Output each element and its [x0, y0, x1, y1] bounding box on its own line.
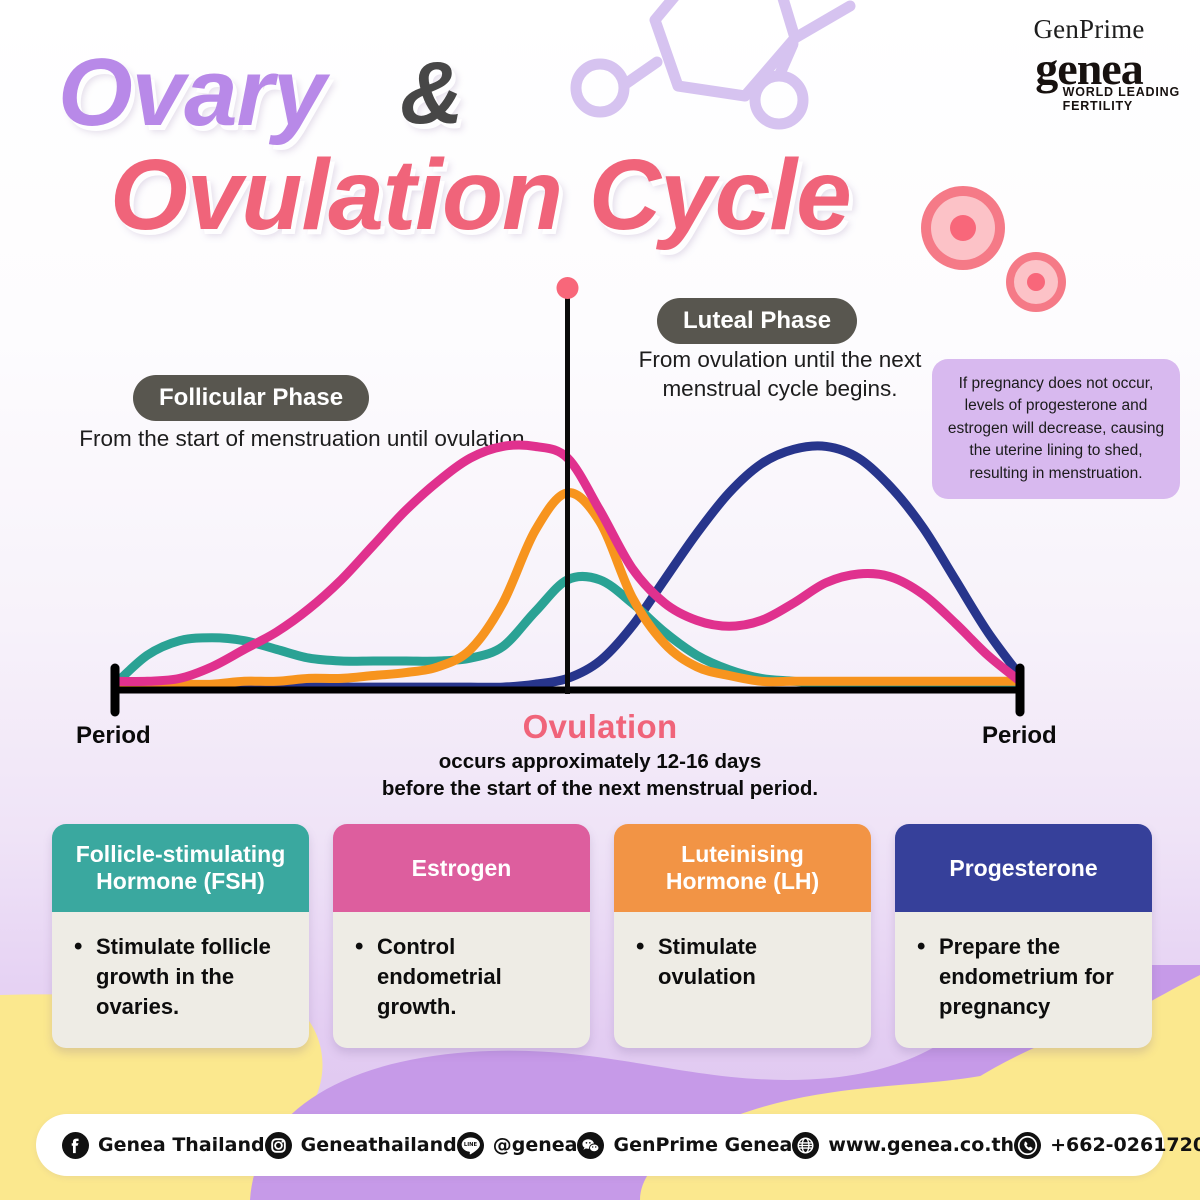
contact-item-label: www.genea.co.th	[828, 1134, 1014, 1156]
ovulation-sublabel-line2: before the start of the next menstrual p…	[0, 775, 1200, 802]
hormone-card-bullet: Prepare the endometrium for pregnancy	[905, 932, 1136, 1022]
contact-item[interactable]: Geneathailand	[265, 1132, 457, 1159]
chart-series-lh	[115, 493, 1020, 685]
title-ovulation-cycle: Ovulation Cycle	[110, 138, 851, 253]
hormone-card-body: Control endometrial growth.	[333, 912, 590, 1048]
luteal-phase-badge: Luteal Phase	[657, 298, 857, 344]
contact-item[interactable]: +662-0261720-9	[1014, 1132, 1200, 1159]
chart-series-fsh	[115, 576, 1020, 684]
hormone-card-title-line1: Follicle-stimulating	[76, 841, 286, 868]
follicular-phase-badge: Follicular Phase	[133, 375, 369, 421]
hormone-card-title-line2: Hormone (FSH)	[76, 868, 286, 895]
contact-item-label: +662-0261720-9	[1050, 1134, 1200, 1156]
logo-tagline-line1: WORLD LEADING	[1063, 85, 1180, 99]
page-title: Ovary & Ovulation Cycle	[0, 0, 1000, 280]
contact-item[interactable]: LINE@genea	[457, 1132, 578, 1159]
ovulation-label: Ovulation	[0, 708, 1200, 746]
hormone-card-body: Prepare the endometrium for pregnancy	[895, 912, 1152, 1048]
hormone-card: EstrogenControl endometrial growth.	[333, 824, 590, 1048]
hormone-card-title-line1: Luteinising	[666, 841, 819, 868]
hormone-card-bullet: Stimulate ovulation	[624, 932, 855, 992]
ovulation-sublabel: occurs approximately 12-16 days before t…	[0, 748, 1200, 802]
hormone-card-title-line1: Estrogen	[412, 855, 512, 882]
hormone-card-body: Stimulate follicle growth in the ovaries…	[52, 912, 309, 1048]
hormone-card-title-line1: Progesterone	[949, 855, 1097, 882]
chart-series-estrogen	[115, 445, 1020, 682]
instagram-icon	[265, 1132, 292, 1159]
hormone-card-list: Follicle-stimulatingHormone (FSH)Stimula…	[52, 824, 1152, 1048]
hormone-card-body: Stimulate ovulation	[614, 912, 871, 1044]
phone-icon	[1014, 1132, 1041, 1159]
hormone-card-title-line2: Hormone (LH)	[666, 868, 819, 895]
wechat-icon	[577, 1132, 604, 1159]
contact-item[interactable]: www.genea.co.th	[792, 1132, 1014, 1159]
line-icon: LINE	[457, 1132, 484, 1159]
ovulation-sublabel-line1: occurs approximately 12-16 days	[0, 748, 1200, 775]
title-ampersand: &	[400, 42, 463, 144]
hormone-card: LuteinisingHormone (LH)Stimulate ovulati…	[614, 824, 871, 1048]
brand-logo: GenPrime genea WORLD LEADING FERTILITY	[994, 14, 1184, 113]
logo-tagline: WORLD LEADING FERTILITY	[1063, 85, 1180, 114]
contact-footer: Genea ThailandGeneathailandLINE@geneaGen…	[36, 1114, 1164, 1176]
infographic-poster: Ovary & Ovulation Cycle GenPrime genea W…	[0, 0, 1200, 1200]
hormone-card-bullet: Control endometrial growth.	[343, 932, 574, 1022]
logo-tagline-line2: FERTILITY	[1063, 99, 1180, 113]
hormone-card-title: Progesterone	[895, 824, 1152, 912]
contact-item-label: GenPrime Genea	[613, 1134, 792, 1156]
hormone-card-title: LuteinisingHormone (LH)	[614, 824, 871, 912]
contact-item-label: @genea	[493, 1134, 578, 1156]
contact-item-label: Geneathailand	[301, 1134, 457, 1156]
hormone-card: ProgesteronePrepare the endometrium for …	[895, 824, 1152, 1048]
contact-item-label: Genea Thailand	[98, 1134, 265, 1156]
title-word-ovary: Ovary	[58, 38, 325, 148]
contact-item[interactable]: GenPrime Genea	[577, 1132, 792, 1159]
globe-icon	[792, 1132, 819, 1159]
hormone-card: Follicle-stimulatingHormone (FSH)Stimula…	[52, 824, 309, 1048]
pregnancy-note-box: If pregnancy does not occur, levels of p…	[932, 359, 1180, 499]
logo-genprime-text: GenPrime	[994, 14, 1184, 45]
facebook-icon	[62, 1132, 89, 1159]
luteal-phase-description: From ovulation until the next menstrual …	[600, 346, 960, 404]
hormone-card-title: Follicle-stimulatingHormone (FSH)	[52, 824, 309, 912]
contact-item[interactable]: Genea Thailand	[62, 1132, 265, 1159]
follicular-phase-description: From the start of menstruation until ovu…	[60, 425, 550, 454]
chart-series-progesterone	[115, 446, 1020, 688]
ovulation-marker-dot	[557, 277, 579, 299]
hormone-card-bullet: Stimulate follicle growth in the ovaries…	[62, 932, 293, 1022]
svg-text:LINE: LINE	[464, 1142, 478, 1148]
hormone-card-title: Estrogen	[333, 824, 590, 912]
